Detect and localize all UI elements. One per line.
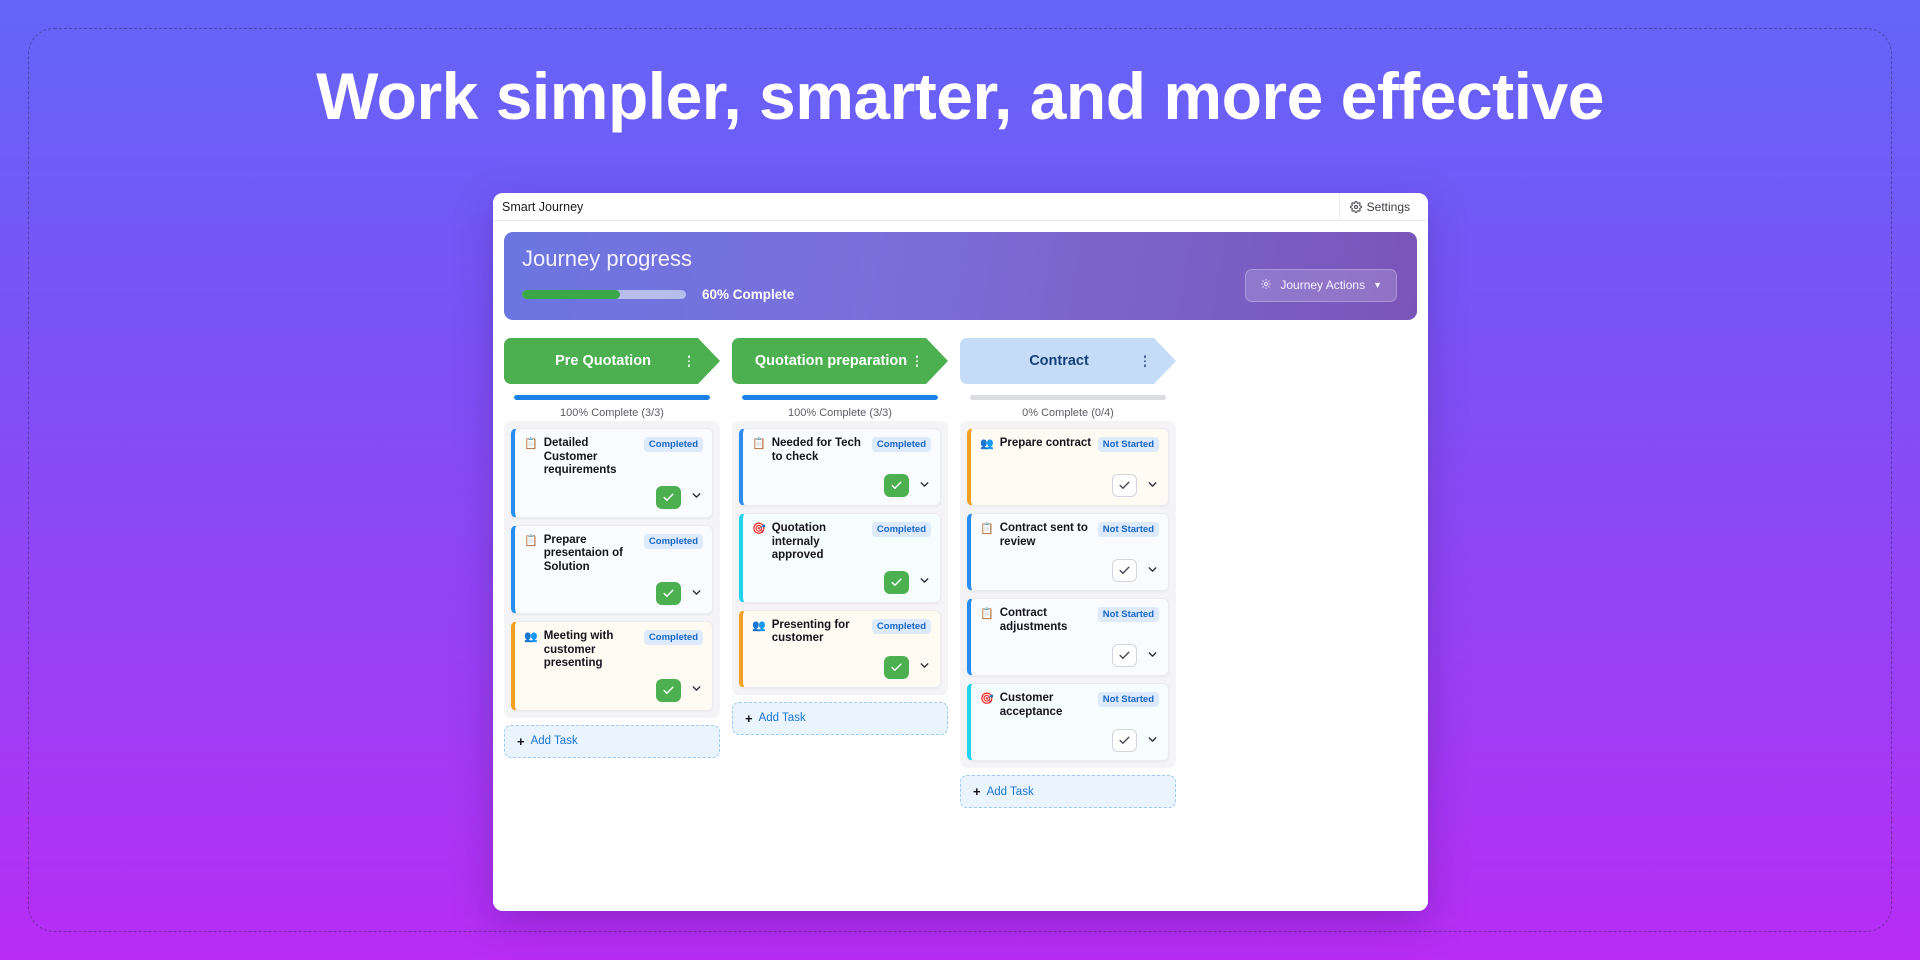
task-card-top: 👥Presenting for customerCompleted [752, 619, 931, 646]
status-badge: Completed [872, 619, 931, 634]
task-complete-button[interactable] [656, 582, 681, 605]
column-header[interactable]: Quotation preparation [732, 338, 948, 384]
column-card-list: 👥Prepare contractNot Started📋Contract se… [960, 421, 1176, 768]
window-title: Smart Journey [502, 200, 583, 214]
task-chevron-down-icon[interactable] [690, 489, 703, 505]
journey-progress-banner: Journey progress 60% Complete Journey Ac… [504, 232, 1417, 320]
task-title-wrap: 🎯Customer acceptance [980, 692, 1092, 719]
people-icon: 👥 [524, 630, 538, 644]
task-chevron-down-icon[interactable] [1146, 648, 1159, 664]
task-title: Detailed Customer requirements [544, 437, 638, 478]
clipboard-icon: 📋 [980, 522, 994, 536]
task-chevron-down-icon[interactable] [690, 682, 703, 698]
journey-progress-heading: Journey progress [522, 246, 794, 272]
add-task-button[interactable]: +Add Task [960, 775, 1176, 808]
column-title: Pre Quotation [555, 353, 651, 369]
task-title: Needed for Tech to check [772, 437, 866, 464]
board-column: Pre Quotation100% Complete (3/3)📋Detaile… [504, 338, 720, 911]
task-complete-button[interactable] [1112, 474, 1137, 497]
task-card-actions [524, 574, 703, 605]
column-progress: 100% Complete (3/3) [732, 384, 948, 421]
task-title-wrap: 📋Detailed Customer requirements [524, 437, 638, 478]
task-chevron-down-icon[interactable] [918, 659, 931, 675]
settings-label: Settings [1367, 200, 1410, 214]
task-chevron-down-icon[interactable] [918, 478, 931, 494]
task-card-actions [980, 636, 1159, 667]
column-menu-icon[interactable] [1144, 355, 1147, 367]
clipboard-icon: 📋 [752, 437, 766, 451]
task-chevron-down-icon[interactable] [1146, 733, 1159, 749]
status-badge: Not Started [1098, 437, 1159, 452]
clipboard-icon: 📋 [524, 437, 538, 451]
task-title: Customer acceptance [1000, 692, 1092, 719]
task-title-wrap: 📋Needed for Tech to check [752, 437, 866, 464]
plus-icon: + [973, 784, 981, 799]
task-card[interactable]: 📋Contract sent to reviewNot Started [967, 513, 1169, 591]
journey-board: Pre Quotation100% Complete (3/3)📋Detaile… [504, 320, 1417, 911]
board-column: Quotation preparation100% Complete (3/3)… [732, 338, 948, 911]
add-task-label: Add Task [759, 712, 806, 724]
task-title: Contract adjustments [1000, 607, 1092, 634]
gear-icon [1260, 278, 1272, 293]
task-card[interactable]: 📋Detailed Customer requirementsCompleted [511, 428, 713, 518]
task-card-actions [980, 466, 1159, 497]
task-card[interactable]: 🎯Customer acceptanceNot Started [967, 683, 1169, 761]
task-title-wrap: 👥Presenting for customer [752, 619, 866, 646]
task-complete-button[interactable] [656, 679, 681, 702]
add-task-button[interactable]: +Add Task [504, 725, 720, 758]
task-title-wrap: 👥Meeting with customer presenting [524, 630, 638, 671]
target-icon: 🎯 [752, 522, 766, 536]
column-header[interactable]: Pre Quotation [504, 338, 720, 384]
task-title-wrap: 📋Contract adjustments [980, 607, 1092, 634]
status-badge: Not Started [1098, 522, 1159, 537]
column-menu-icon[interactable] [916, 355, 919, 367]
app-body: Journey progress 60% Complete Journey Ac… [493, 221, 1428, 911]
board-column: Contract0% Complete (0/4)👥Prepare contra… [960, 338, 1176, 911]
task-card-actions [980, 551, 1159, 582]
journey-progress-row: 60% Complete [522, 287, 794, 302]
column-card-list: 📋Needed for Tech to checkCompleted🎯Quota… [732, 421, 948, 695]
clipboard-icon: 📋 [524, 534, 538, 548]
journey-progress-bar [522, 290, 686, 299]
task-card[interactable]: 📋Needed for Tech to checkCompleted [739, 428, 941, 506]
add-task-button[interactable]: +Add Task [732, 702, 948, 735]
task-chevron-down-icon[interactable] [918, 574, 931, 590]
task-complete-button[interactable] [1112, 729, 1137, 752]
task-card-actions [524, 478, 703, 509]
clipboard-icon: 📋 [980, 607, 994, 621]
task-title: Meeting with customer presenting [544, 630, 638, 671]
column-progress: 0% Complete (0/4) [960, 384, 1176, 421]
status-badge: Completed [644, 437, 703, 452]
column-header[interactable]: Contract [960, 338, 1176, 384]
journey-actions-button[interactable]: Journey Actions ▼ [1245, 269, 1397, 302]
column-menu-icon[interactable] [688, 355, 691, 367]
status-badge: Not Started [1098, 692, 1159, 707]
task-title: Quotation internaly approved [772, 522, 866, 563]
task-chevron-down-icon[interactable] [690, 586, 703, 602]
window-titlebar: Smart Journey Settings [493, 193, 1428, 221]
column-progress-label: 100% Complete (3/3) [742, 400, 938, 419]
task-title-wrap: 🎯Quotation internaly approved [752, 522, 866, 563]
task-card-actions [752, 648, 931, 679]
task-title: Presenting for customer [772, 619, 866, 646]
task-title: Prepare presentaion of Solution [544, 534, 638, 575]
gear-icon [1350, 201, 1362, 213]
add-task-label: Add Task [987, 786, 1034, 798]
task-card[interactable]: 📋Prepare presentaion of SolutionComplete… [511, 525, 713, 615]
task-chevron-down-icon[interactable] [1146, 563, 1159, 579]
task-card-top: 📋Contract sent to reviewNot Started [980, 522, 1159, 549]
task-card[interactable]: 👥Presenting for customerCompleted [739, 610, 941, 688]
column-card-list: 📋Detailed Customer requirementsCompleted… [504, 421, 720, 718]
task-title-wrap: 👥Prepare contract [980, 437, 1091, 452]
task-card[interactable]: 👥Meeting with customer presentingComplet… [511, 621, 713, 711]
task-card-top: 📋Contract adjustmentsNot Started [980, 607, 1159, 634]
task-title: Contract sent to review [1000, 522, 1092, 549]
settings-button[interactable]: Settings [1339, 193, 1428, 220]
task-card-top: 🎯Customer acceptanceNot Started [980, 692, 1159, 719]
task-complete-button[interactable] [884, 474, 909, 497]
journey-progress-label: 60% Complete [702, 287, 794, 302]
people-icon: 👥 [752, 619, 766, 633]
task-card-actions [752, 563, 931, 594]
task-card-top: 👥Meeting with customer presentingComplet… [524, 630, 703, 671]
chevron-down-icon: ▼ [1373, 280, 1382, 290]
target-icon: 🎯 [980, 692, 994, 706]
task-card-top: 👥Prepare contractNot Started [980, 437, 1159, 452]
status-badge: Completed [644, 630, 703, 645]
task-card-actions [980, 721, 1159, 752]
task-card[interactable]: 📋Contract adjustmentsNot Started [967, 598, 1169, 676]
column-progress-label: 0% Complete (0/4) [970, 400, 1166, 419]
task-card[interactable]: 🎯Quotation internaly approvedCompleted [739, 513, 941, 603]
plus-icon: + [745, 711, 753, 726]
task-title-wrap: 📋Prepare presentaion of Solution [524, 534, 638, 575]
task-complete-button[interactable] [656, 486, 681, 509]
journey-progress-left: Journey progress 60% Complete [522, 246, 794, 320]
page-title: Work simpler, smarter, and more effectiv… [0, 58, 1920, 134]
task-complete-button[interactable] [1112, 644, 1137, 667]
status-badge: Not Started [1098, 607, 1159, 622]
journey-progress-bar-fill [522, 290, 620, 299]
task-card[interactable]: 👥Prepare contractNot Started [967, 428, 1169, 506]
status-badge: Completed [644, 534, 703, 549]
column-progress: 100% Complete (3/3) [504, 384, 720, 421]
task-title-wrap: 📋Contract sent to review [980, 522, 1092, 549]
task-complete-button[interactable] [884, 571, 909, 594]
journey-actions-label: Journey Actions [1280, 278, 1365, 292]
add-task-label: Add Task [531, 735, 578, 747]
status-badge: Completed [872, 437, 931, 452]
task-card-top: 📋Detailed Customer requirementsCompleted [524, 437, 703, 478]
task-card-actions [524, 671, 703, 702]
task-complete-button[interactable] [1112, 559, 1137, 582]
task-card-top: 📋Needed for Tech to checkCompleted [752, 437, 931, 464]
task-card-top: 🎯Quotation internaly approvedCompleted [752, 522, 931, 563]
column-title: Quotation preparation [755, 353, 907, 369]
column-title: Contract [1029, 353, 1089, 369]
task-chevron-down-icon[interactable] [1146, 478, 1159, 494]
task-card-actions [752, 466, 931, 497]
app-window: Smart Journey Settings Journey progress … [493, 193, 1428, 911]
task-card-top: 📋Prepare presentaion of SolutionComplete… [524, 534, 703, 575]
column-progress-label: 100% Complete (3/3) [514, 400, 710, 419]
plus-icon: + [517, 734, 525, 749]
task-complete-button[interactable] [884, 656, 909, 679]
people-icon: 👥 [980, 437, 994, 451]
task-title: Prepare contract [1000, 437, 1091, 451]
status-badge: Completed [872, 522, 931, 537]
